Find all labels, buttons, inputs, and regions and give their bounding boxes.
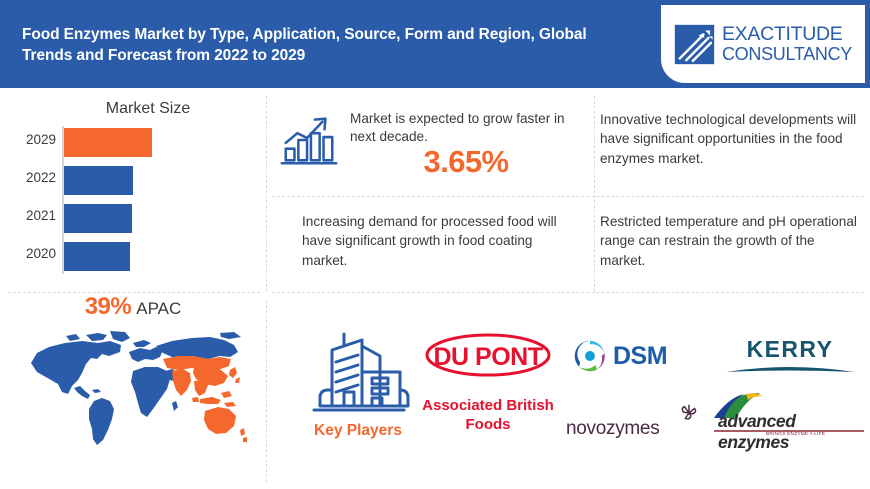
divider-vertical-mid bbox=[594, 96, 595, 292]
bar-label: 2020 bbox=[14, 246, 56, 261]
company-logo-plate: EXACTITUDE CONSULTANCY bbox=[659, 3, 867, 85]
growth-bar-chart-icon bbox=[278, 108, 340, 170]
page-title: Food Enzymes Market by Type, Application… bbox=[22, 24, 632, 67]
region-name: APAC bbox=[136, 299, 181, 318]
novozymes-logo: novozymes bbox=[566, 404, 706, 444]
bar-label: 2021 bbox=[14, 208, 56, 223]
dsm-logo: DSM bbox=[572, 334, 702, 378]
table-row: 2020 bbox=[14, 242, 254, 271]
table-row: 2021 bbox=[14, 204, 254, 233]
divider-vertical-bottom bbox=[266, 300, 267, 482]
kerry-wordmark: KERRY bbox=[724, 336, 856, 363]
bar-2020 bbox=[64, 242, 130, 271]
abf-label: Associated British Foods bbox=[420, 396, 556, 434]
insight-restraint: Restricted temperature and pH operationa… bbox=[600, 212, 858, 270]
cagr-description: Market is expected to grow faster in nex… bbox=[350, 110, 582, 147]
swoosh-underline bbox=[724, 364, 856, 376]
adv-underline bbox=[714, 429, 864, 433]
office-building-icon bbox=[304, 330, 412, 416]
insight-driver: Increasing demand for processed food wil… bbox=[302, 212, 572, 270]
bar-label: 2022 bbox=[14, 170, 56, 185]
arrows-up-right-icon bbox=[674, 24, 715, 65]
table-row: 2029 bbox=[14, 128, 254, 157]
market-size-chart: Market Size 2029 2022 2021 2020 bbox=[0, 88, 266, 286]
dsm-wordmark: DSM bbox=[613, 342, 667, 371]
cagr-value: 3.65% bbox=[350, 144, 582, 180]
novozymes-wordmark: novozymes bbox=[566, 418, 659, 440]
world-map bbox=[22, 328, 250, 452]
region-percent: 39% bbox=[85, 293, 132, 320]
bar-2022 bbox=[64, 166, 133, 195]
kerry-logo: KERRY bbox=[724, 334, 856, 378]
dupont-wordmark: DU PONT bbox=[434, 343, 543, 371]
region-label: 39%APAC bbox=[0, 293, 266, 321]
brand-name-line1: EXACTITUDE bbox=[722, 25, 852, 45]
divider-horizontal-lower bbox=[272, 292, 864, 293]
advanced-enzymes-logo: advanced enzymes BRINGS ENZYME A LIFE bbox=[704, 398, 864, 446]
bar-2021 bbox=[64, 204, 132, 233]
page-header: Food Enzymes Market by Type, Application… bbox=[0, 0, 870, 88]
bar-label: 2029 bbox=[14, 132, 56, 147]
dupont-logo: DU PONT bbox=[424, 332, 552, 378]
key-players-panel: Key Players DU PONT Associated British F… bbox=[272, 300, 870, 489]
divider-vertical-left bbox=[266, 96, 267, 292]
cagr-cell: Market is expected to grow faster in nex… bbox=[272, 96, 590, 192]
bar-2029 bbox=[64, 128, 152, 157]
color-swirl-icon bbox=[572, 338, 608, 374]
butterfly-icon bbox=[678, 402, 700, 424]
brand-name-line2: CONSULTANCY bbox=[722, 45, 852, 63]
chart-plot-area: 2029 2022 2021 2020 bbox=[14, 126, 254, 274]
key-players-label: Key Players bbox=[288, 422, 428, 440]
divider-horizontal-mid bbox=[272, 196, 864, 197]
table-row: 2022 bbox=[14, 166, 254, 195]
chart-title: Market Size bbox=[0, 100, 266, 118]
insight-opportunity: Innovative technological developments wi… bbox=[600, 110, 858, 168]
region-map-panel: 39%APAC bbox=[0, 286, 266, 489]
